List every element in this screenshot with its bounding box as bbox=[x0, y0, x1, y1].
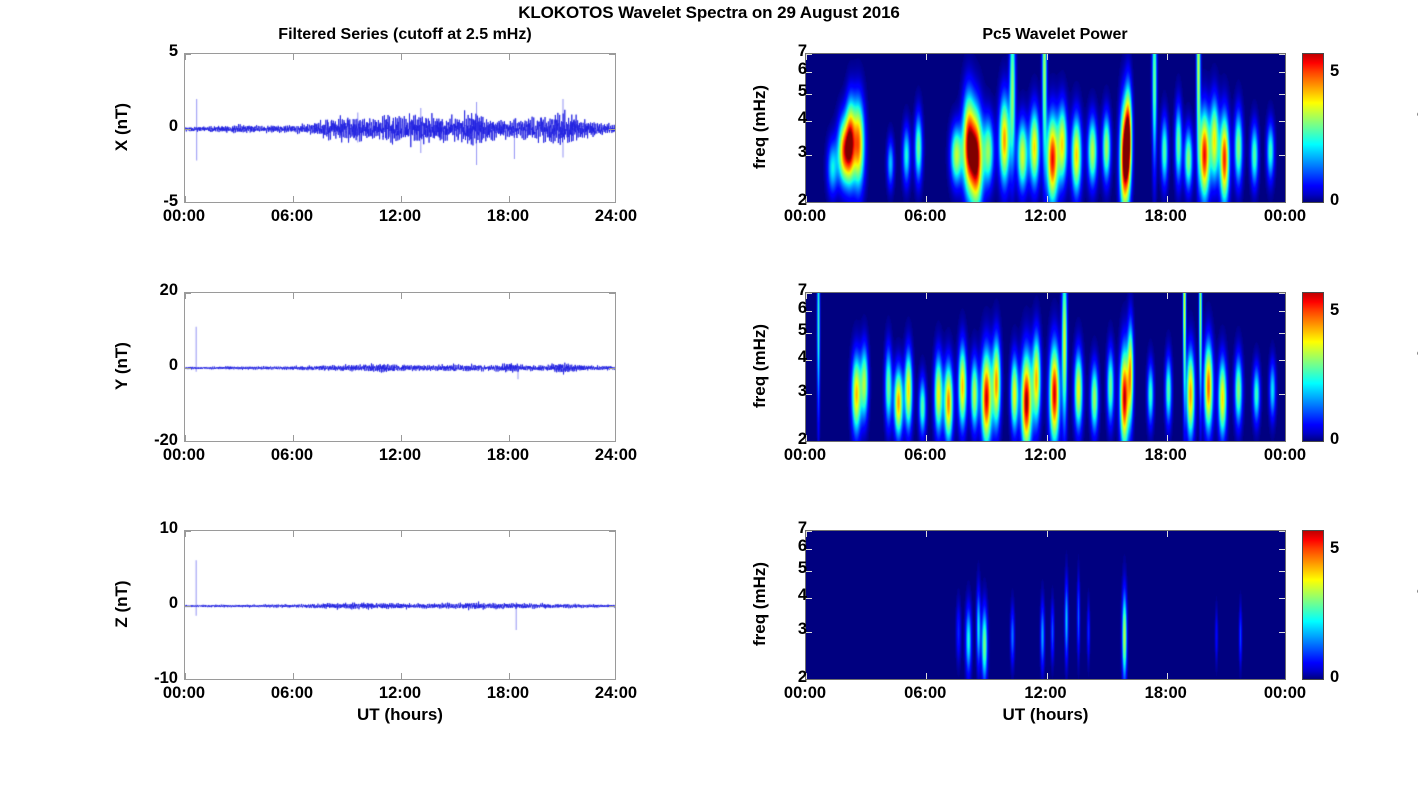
xtick-label: 12:00 bbox=[358, 207, 442, 226]
xtick-label: 06:00 bbox=[883, 446, 967, 465]
ytick-mark bbox=[609, 531, 615, 532]
xtick-label: 12:00 bbox=[358, 684, 442, 703]
xtick-label: 18:00 bbox=[1124, 446, 1208, 465]
timeseries-trace-y bbox=[185, 293, 616, 442]
xtick-mark bbox=[185, 673, 186, 679]
xtick-label: 12:00 bbox=[1004, 207, 1088, 226]
xtick-label: 00:00 bbox=[1243, 684, 1327, 703]
timeseries-plot-area-z bbox=[184, 530, 616, 680]
xtick-mark bbox=[293, 531, 294, 537]
xtick-mark bbox=[1047, 293, 1048, 299]
xtick-mark bbox=[293, 673, 294, 679]
xaxis-label-right: UT (hours) bbox=[805, 705, 1286, 725]
xtick-mark bbox=[926, 531, 927, 537]
xtick-mark bbox=[926, 435, 927, 441]
colorbar-tick-label: 0 bbox=[1330, 668, 1339, 687]
xtick-mark bbox=[1047, 673, 1048, 679]
xtick-mark bbox=[401, 673, 402, 679]
xtick-label: 24:00 bbox=[574, 446, 658, 465]
xtick-label: 12:00 bbox=[1004, 446, 1088, 465]
freq-tick-mark bbox=[1279, 121, 1285, 122]
xtick-mark bbox=[509, 435, 510, 441]
freq-tick-mark bbox=[1279, 632, 1285, 633]
xtick-label: 06:00 bbox=[883, 207, 967, 226]
xtick-mark bbox=[293, 435, 294, 441]
xtick-mark bbox=[185, 196, 186, 202]
ytick-mark bbox=[185, 368, 191, 369]
xtick-label: 00:00 bbox=[763, 684, 847, 703]
xtick-label: 18:00 bbox=[466, 446, 550, 465]
panel-spectrogram-z: 76543200:0006:0012:0018:0000:00freq (mHz… bbox=[805, 530, 1286, 680]
spectrogram-image-z bbox=[806, 531, 1286, 680]
xtick-mark bbox=[509, 54, 510, 60]
xtick-mark bbox=[185, 531, 186, 537]
freq-tick-mark bbox=[1279, 598, 1285, 599]
freq-tick-mark bbox=[1279, 94, 1285, 95]
xtick-mark bbox=[1167, 531, 1168, 537]
freq-tick-mark bbox=[1279, 293, 1285, 294]
xtick-label: 24:00 bbox=[574, 207, 658, 226]
xtick-mark bbox=[293, 293, 294, 299]
xtick-mark bbox=[926, 54, 927, 60]
colorbar-tick-label: 5 bbox=[1330, 301, 1339, 320]
ytick-mark bbox=[609, 606, 615, 607]
panel-timeseries-x: 50-500:0006:0012:0018:0024:00X (nT) bbox=[184, 53, 616, 203]
xtick-label: 00:00 bbox=[142, 207, 226, 226]
xtick-label: 00:00 bbox=[142, 684, 226, 703]
colorbar-tick-label: 0 bbox=[1330, 430, 1339, 449]
freq-tick-mark bbox=[1279, 531, 1285, 532]
panel-spectrogram-y: 76543200:0006:0012:0018:0000:00freq (mHz… bbox=[805, 292, 1286, 442]
colorbar-z bbox=[1302, 530, 1324, 680]
timeseries-trace-z bbox=[185, 531, 616, 680]
freq-tick-mark bbox=[1279, 155, 1285, 156]
xtick-mark bbox=[1167, 435, 1168, 441]
freq-tick-mark bbox=[1279, 54, 1285, 55]
xtick-mark bbox=[401, 196, 402, 202]
xtick-label: 24:00 bbox=[574, 684, 658, 703]
xtick-mark bbox=[509, 293, 510, 299]
xaxis-label-left: UT (hours) bbox=[184, 705, 616, 725]
xtick-label: 00:00 bbox=[763, 446, 847, 465]
xtick-mark bbox=[401, 531, 402, 537]
ytick-mark bbox=[609, 368, 615, 369]
ytick-mark bbox=[185, 606, 191, 607]
yaxis-label-z: Z (nT) bbox=[112, 529, 132, 679]
xtick-mark bbox=[293, 196, 294, 202]
freq-tick-mark bbox=[1279, 72, 1285, 73]
xtick-label: 12:00 bbox=[1004, 684, 1088, 703]
freq-tick-mark bbox=[1279, 549, 1285, 550]
spectrogram-image-x bbox=[806, 54, 1286, 203]
xtick-label: 18:00 bbox=[466, 207, 550, 226]
freq-tick-mark bbox=[1279, 333, 1285, 334]
yaxis-label-x: X (nT) bbox=[112, 52, 132, 202]
freq-tick-mark bbox=[1279, 311, 1285, 312]
left-column-title: Filtered Series (cutoff at 2.5 mHz) bbox=[180, 26, 630, 44]
freq-axis-label-y: freq (mHz) bbox=[750, 291, 770, 441]
xtick-mark bbox=[926, 293, 927, 299]
timeseries-trace-x bbox=[185, 54, 616, 203]
xtick-mark bbox=[1167, 196, 1168, 202]
right-column-title: Pc5 Wavelet Power bbox=[825, 26, 1285, 44]
timeseries-plot-area-x bbox=[184, 53, 616, 203]
xtick-mark bbox=[1047, 196, 1048, 202]
panel-timeseries-y: 200-2000:0006:0012:0018:0024:00Y (nT) bbox=[184, 292, 616, 442]
xtick-mark bbox=[185, 435, 186, 441]
xtick-label: 12:00 bbox=[358, 446, 442, 465]
figure-title: KLOKOTOS Wavelet Spectra on 29 August 20… bbox=[0, 3, 1418, 23]
colorbar-tick-label: 5 bbox=[1330, 539, 1339, 558]
xtick-label: 00:00 bbox=[1243, 446, 1327, 465]
xtick-mark bbox=[926, 673, 927, 679]
xtick-mark bbox=[509, 673, 510, 679]
xtick-mark bbox=[1167, 673, 1168, 679]
xtick-label: 18:00 bbox=[1124, 207, 1208, 226]
xtick-label: 00:00 bbox=[1243, 207, 1327, 226]
colorbar-x bbox=[1302, 53, 1324, 203]
xtick-mark bbox=[401, 54, 402, 60]
timeseries-plot-area-y bbox=[184, 292, 616, 442]
spectrogram-image-y bbox=[806, 293, 1286, 442]
xtick-mark bbox=[401, 293, 402, 299]
freq-axis-label-x: freq (mHz) bbox=[750, 52, 770, 202]
spectrogram-plot-area-y bbox=[805, 292, 1286, 442]
xtick-mark bbox=[293, 54, 294, 60]
xtick-mark bbox=[1167, 54, 1168, 60]
xtick-label: 18:00 bbox=[1124, 684, 1208, 703]
xtick-mark bbox=[1167, 293, 1168, 299]
xtick-mark bbox=[1047, 435, 1048, 441]
freq-axis-label-z: freq (mHz) bbox=[750, 529, 770, 679]
xtick-label: 06:00 bbox=[250, 446, 334, 465]
xtick-label: 06:00 bbox=[250, 684, 334, 703]
xtick-mark bbox=[926, 196, 927, 202]
xtick-mark bbox=[185, 54, 186, 60]
xtick-mark bbox=[185, 293, 186, 299]
yaxis-label-y: Y (nT) bbox=[112, 291, 132, 441]
xtick-label: 06:00 bbox=[250, 207, 334, 226]
spectrogram-plot-area-z bbox=[805, 530, 1286, 680]
ytick-mark bbox=[185, 129, 191, 130]
xtick-mark bbox=[509, 531, 510, 537]
panel-spectrogram-x: 76543200:0006:0012:0018:0000:00freq (mHz… bbox=[805, 53, 1286, 203]
xtick-mark bbox=[1047, 54, 1048, 60]
freq-tick-mark bbox=[1279, 571, 1285, 572]
panel-timeseries-z: 100-1000:0006:0012:0018:0024:00Z (nT) bbox=[184, 530, 616, 680]
xtick-label: 06:00 bbox=[883, 684, 967, 703]
figure-root: KLOKOTOS Wavelet Spectra on 29 August 20… bbox=[0, 0, 1418, 788]
xtick-label: 00:00 bbox=[142, 446, 226, 465]
ytick-mark bbox=[609, 293, 615, 294]
colorbar-tick-label: 5 bbox=[1330, 62, 1339, 81]
freq-tick-mark bbox=[1279, 360, 1285, 361]
ytick-mark bbox=[609, 129, 615, 130]
spectrogram-plot-area-x bbox=[805, 53, 1286, 203]
colorbar-y bbox=[1302, 292, 1324, 442]
xtick-label: 00:00 bbox=[763, 207, 847, 226]
freq-tick-mark bbox=[1279, 394, 1285, 395]
xtick-label: 18:00 bbox=[466, 684, 550, 703]
ytick-mark bbox=[609, 54, 615, 55]
xtick-mark bbox=[1047, 531, 1048, 537]
colorbar-tick-label: 0 bbox=[1330, 191, 1339, 210]
xtick-mark bbox=[509, 196, 510, 202]
xtick-mark bbox=[401, 435, 402, 441]
